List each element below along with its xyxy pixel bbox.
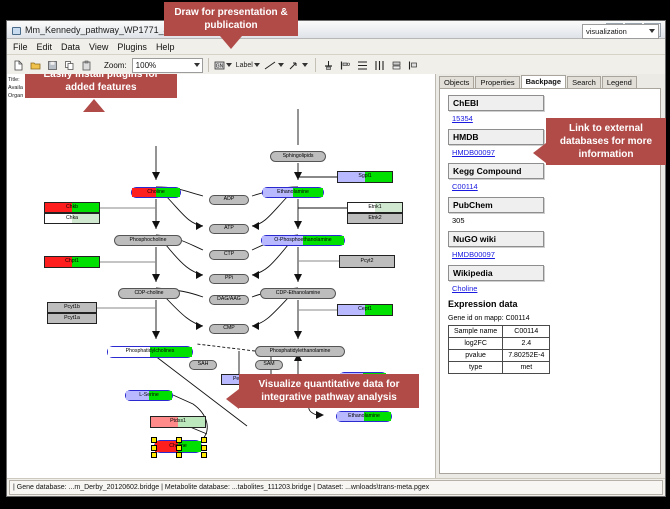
db-link-nugo-wiki[interactable]: HMDB00097 [452, 250, 660, 259]
tab-legend[interactable]: Legend [602, 76, 637, 88]
status-bar: | Gene database: ...m_Derby_20120602.bri… [7, 478, 665, 496]
gene-node-pcyt1a[interactable]: Pcyt1a [47, 313, 97, 324]
selection-handle[interactable] [176, 452, 182, 458]
visualization-value: visualization [586, 27, 627, 36]
selection-handle[interactable] [151, 445, 157, 451]
node-label: ADP [224, 197, 235, 202]
chevron-down-icon [226, 63, 232, 67]
app-icon [11, 25, 21, 35]
callout-plugins-arrow [83, 99, 105, 112]
menu-data[interactable]: Data [61, 42, 80, 52]
node-label: Chkb [66, 205, 78, 210]
expression-table: Sample name C00114 log2FC 2.4 pvalue 7.8… [448, 325, 550, 374]
gene-node-pcyt2[interactable]: Pcyt2 [339, 255, 395, 268]
tab-objects[interactable]: Objects [439, 76, 474, 88]
canvas-side-labels: Title: Availa Organ [8, 76, 23, 100]
distribute-horizontal-icon[interactable] [372, 58, 387, 73]
node-label: Pcyt1a [64, 316, 80, 321]
node-label: DAG/AAG [217, 297, 241, 302]
chevron-down-icon [194, 63, 200, 67]
node-label: SAM [263, 362, 274, 367]
canvas-label-organism: Organ [8, 92, 23, 100]
metabolite-node-phosphatidylethanolamine[interactable]: Phosphatidylethanolamine [255, 346, 345, 357]
metabolite-node-atp[interactable]: ATP [209, 224, 249, 234]
db-title-nugo-wiki: NuGO wiki [448, 231, 544, 247]
node-label: Pcyt1b [64, 305, 80, 310]
label-tool[interactable]: Label [236, 62, 260, 69]
metabolite-node-l-serine[interactable]: L-Serine [125, 390, 173, 401]
node-label: ATP [224, 226, 234, 231]
selection-handle[interactable] [151, 452, 157, 458]
node-label: Choline [147, 190, 165, 195]
menu-help[interactable]: Help [156, 42, 175, 52]
title-bar: Mm_Kennedy_pathway_WP1771_45176.gpml — ▭… [7, 21, 665, 39]
node-label: Sphingolipids [283, 154, 314, 159]
chevron-down-icon [649, 29, 655, 33]
table-row: pvalue 7.80252E-4 [449, 350, 550, 362]
canvas-label-title: Title: [8, 76, 23, 84]
db-link-wikipedia[interactable]: Choline [452, 284, 660, 293]
node-label: O-Phosphoethanolamine [274, 238, 331, 243]
distribute-vertical-icon[interactable] [355, 58, 370, 73]
db-title-hmdb: HMDB [448, 129, 544, 145]
table-row: Sample name C00114 [449, 326, 550, 338]
cell-key: log2FC [449, 338, 503, 350]
tab-properties[interactable]: Properties [475, 76, 519, 88]
db-title-chebi: ChEBI [448, 95, 544, 111]
callout-draw-arrow [220, 36, 242, 49]
selection-handle[interactable] [176, 437, 182, 443]
receptor-tool[interactable] [288, 60, 308, 71]
db-title-wikipedia: Wikipedia [448, 265, 544, 281]
stack-icon[interactable] [389, 58, 404, 73]
selection-handle[interactable] [201, 437, 207, 443]
selection-handle[interactable] [201, 445, 207, 451]
menu-edit[interactable]: Edit [37, 42, 53, 52]
metabolite-node-sah[interactable]: SAH [189, 360, 217, 370]
node-label: SAH [198, 362, 209, 367]
node-label: Etnk2 [368, 216, 381, 221]
node-label: Sgpl1 [358, 174, 371, 179]
metabolite-node-ctp[interactable]: CTP [209, 250, 249, 260]
chevron-down-icon [302, 63, 308, 67]
metabolite-node-ppi[interactable]: PPi [209, 274, 249, 284]
gene-node-etnk2[interactable]: Etnk2 [347, 213, 403, 224]
node-label: CDP-choline [134, 291, 163, 296]
line-tool[interactable] [264, 60, 284, 71]
metabolite-node-sphingolipids[interactable]: Sphingolipids [270, 151, 326, 162]
callout-links-arrow [533, 143, 546, 163]
cell-key: type [449, 362, 503, 374]
toolbar-separator [315, 58, 316, 72]
db-value-pubchem: 305 [452, 216, 660, 225]
cell-value: 2.4 [503, 338, 550, 350]
selection-handle[interactable] [176, 445, 182, 451]
node-label: Etnk1 [368, 205, 381, 210]
gene-id-line: Gene id on mapp: C00114 [448, 315, 660, 322]
selection-handle[interactable] [201, 452, 207, 458]
node-label: Chpt1 [65, 259, 79, 264]
menu-file[interactable]: File [13, 42, 28, 52]
node-label: CMP [223, 326, 235, 331]
gene-node-chpt1[interactable]: Chpt1 [44, 256, 100, 268]
callout-draw: Draw for presentation & publication [164, 2, 298, 36]
pathvisio-window: Mm_Kennedy_pathway_WP1771_45176.gpml — ▭… [6, 20, 666, 497]
table-row: type met [449, 362, 550, 374]
metabolite-node-phosphatidylcholines[interactable]: Phosphatidylcholines [107, 346, 193, 358]
screenshot-root: Mm_Kennedy_pathway_WP1771_45176.gpml — ▭… [0, 0, 670, 509]
node-label: Ethanolamine [277, 190, 309, 195]
align-left-icon[interactable] [338, 58, 353, 73]
metabolite-node-ethanolamine[interactable]: Ethanolamine [336, 411, 392, 422]
gene-node-ptdss1[interactable]: Ptdss1 [150, 416, 206, 428]
order-icon[interactable] [406, 58, 421, 73]
side-tabs: Objects Properties Backpage Search Legen… [436, 74, 665, 88]
metabolite-node-o-phosphoethanolamine[interactable]: O-Phosphoethanolamine [261, 235, 345, 246]
zoom-select[interactable]: 100% [132, 58, 203, 73]
chevron-down-icon [278, 63, 284, 67]
datanode-tool[interactable]: GN [214, 60, 232, 71]
gene-node-chka[interactable]: Chka [44, 213, 100, 224]
toolbar-separator [208, 58, 209, 72]
node-label: Phosphocholine [130, 238, 167, 243]
callout-visualize-arrow [226, 389, 239, 409]
node-label: Ethanolamine [348, 414, 380, 419]
node-label: L-Serine [139, 393, 159, 398]
cell-key: Sample name [449, 326, 503, 338]
gene-node-pcyt1b[interactable]: Pcyt1b [47, 302, 97, 313]
node-label: CTP [224, 252, 234, 257]
gene-node-cept1[interactable]: Cept1 [337, 304, 393, 316]
metabolite-node-adp[interactable]: ADP [209, 195, 249, 205]
node-label: Pcyt2 [361, 259, 374, 264]
chevron-down-icon [254, 63, 260, 67]
cell-key: pvalue [449, 350, 503, 362]
metabolite-node-ethanolamine[interactable]: Ethanolamine [262, 187, 324, 198]
selection-handle[interactable] [151, 437, 157, 443]
metabolite-node-cmp[interactable]: CMP [209, 324, 249, 334]
cell-value: met [503, 362, 550, 374]
db-title-kegg-compound: Kegg Compound [448, 163, 544, 179]
tab-search[interactable]: Search [567, 76, 601, 88]
toolbar: Zoom: 100% GN Label [7, 55, 665, 76]
gene-node-etnk1[interactable]: Etnk1 [347, 202, 403, 213]
save-icon[interactable] [45, 58, 60, 73]
tab-backpage[interactable]: Backpage [521, 75, 566, 88]
node-label: CDP-Ethanolamine [276, 291, 320, 296]
callout-visualize: Visualize quantitative data for integrat… [239, 374, 419, 408]
pathway-canvas[interactable]: Title: Availa Organ [7, 74, 436, 478]
metabolite-node-dag-aag[interactable]: DAG/AAG [209, 295, 249, 305]
db-title-pubchem: PubChem [448, 197, 544, 213]
node-label: Cept1 [358, 307, 372, 312]
align-top-icon[interactable] [321, 58, 336, 73]
new-file-icon[interactable] [11, 58, 26, 73]
cell-value: 7.80252E-4 [503, 350, 550, 362]
metabolite-node-cdp-choline[interactable]: CDP-choline [118, 288, 180, 299]
expression-data-heading: Expression data [448, 299, 660, 309]
metabolite-node-phosphocholine[interactable]: Phosphocholine [114, 235, 182, 246]
label-tool-text: Label [236, 62, 253, 69]
paste-icon[interactable] [79, 58, 94, 73]
db-link-kegg-compound[interactable]: C00114 [452, 182, 660, 191]
gene-node-sgpl1[interactable]: Sgpl1 [337, 171, 393, 183]
metabolite-node-choline[interactable]: Choline [131, 187, 181, 198]
zoom-value: 100% [136, 61, 156, 70]
node-label: PPi [225, 276, 233, 281]
menu-bar: File Edit Data View Plugins Help [7, 39, 665, 55]
canvas-label-availability: Availa [8, 84, 23, 92]
visualization-select[interactable]: visualization [582, 24, 659, 39]
table-row: log2FC 2.4 [449, 338, 550, 350]
metabolite-node-cdp-ethanolamine[interactable]: CDP-Ethanolamine [260, 288, 336, 299]
node-label: Phosphatidylethanolamine [270, 349, 331, 354]
metabolite-node-sam[interactable]: SAM [255, 360, 283, 370]
zoom-label: Zoom: [104, 61, 127, 70]
status-text: | Gene database: ...m_Derby_20120602.bri… [9, 480, 663, 495]
node-label: Ptdss1 [170, 419, 186, 424]
copy-icon[interactable] [62, 58, 77, 73]
callout-links: Link to external databases for more info… [546, 118, 666, 165]
cell-value: C00114 [503, 326, 550, 338]
menu-plugins[interactable]: Plugins [117, 42, 147, 52]
node-label: Chka [66, 216, 78, 221]
gene-node-chkb[interactable]: Chkb [44, 202, 100, 213]
callout-plugins: Easily install plugins for added feature… [25, 74, 177, 98]
node-label: Phosphatidylcholines [126, 349, 175, 354]
svg-text:GN: GN [215, 63, 223, 69]
open-folder-icon[interactable] [28, 58, 43, 73]
menu-view[interactable]: View [89, 42, 108, 52]
